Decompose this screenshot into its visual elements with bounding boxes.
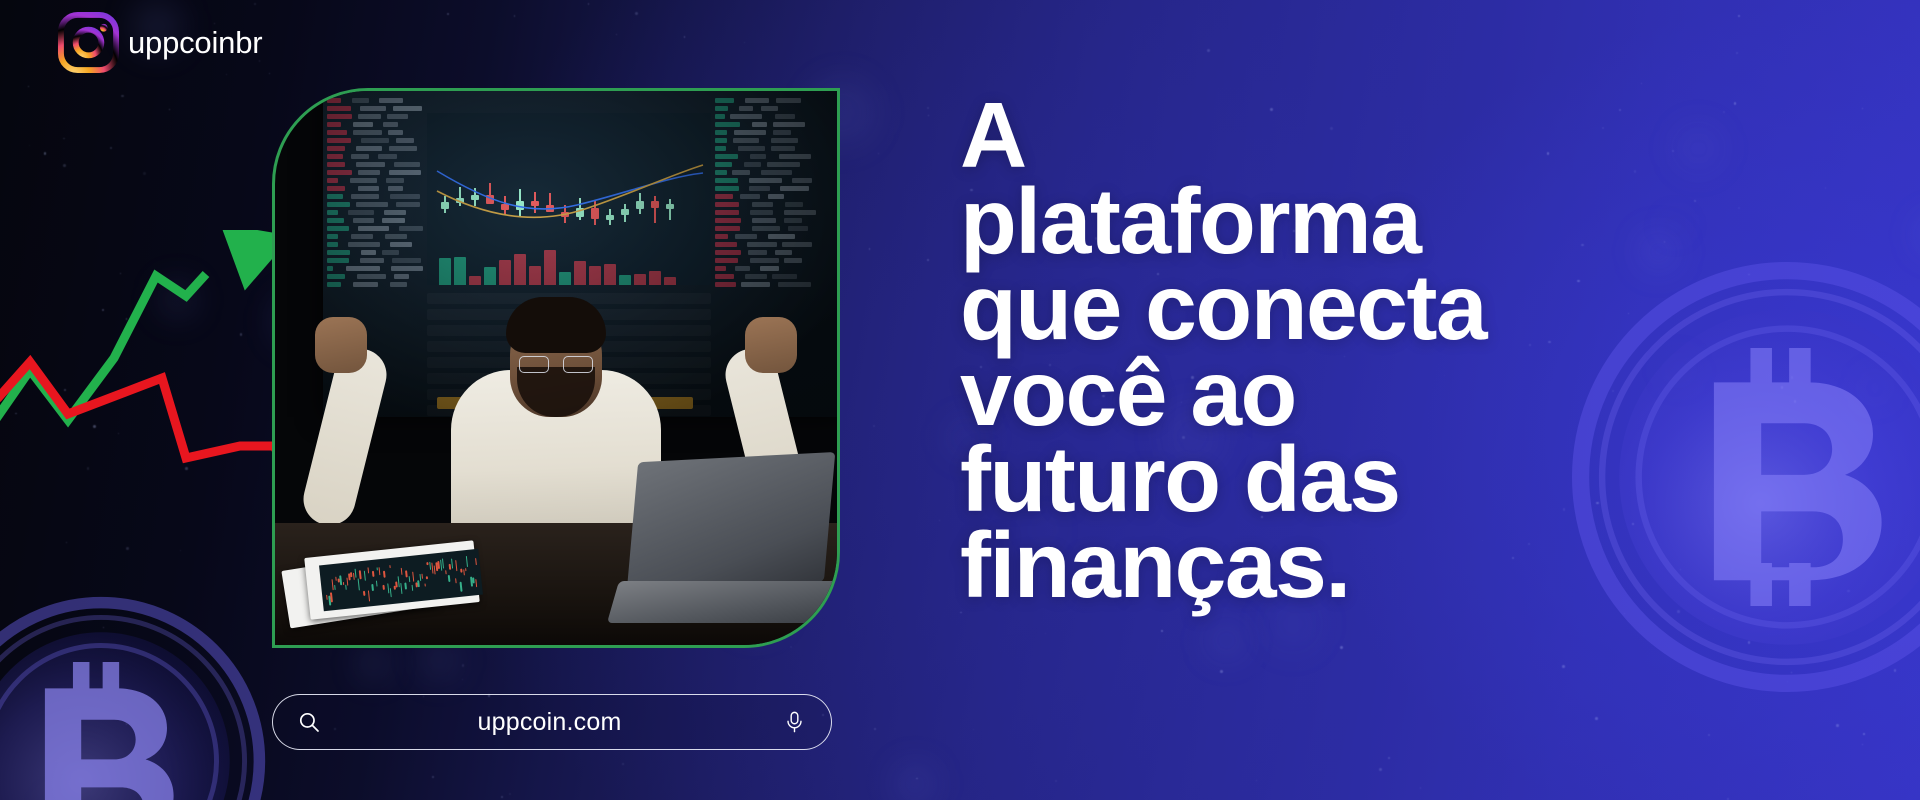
- laptop-base: [607, 581, 837, 623]
- instagram-handle[interactable]: uppcoinbr: [57, 11, 262, 74]
- bitcoin-coin-icon-left: [0, 596, 266, 800]
- page-title: Aplataformaque conectavocê aofuturo dasf…: [960, 92, 1690, 608]
- page-title-line: que conecta: [960, 264, 1690, 350]
- microphone-icon[interactable]: [784, 710, 805, 734]
- laptop-lid: [627, 452, 836, 592]
- desk-surface: [275, 523, 837, 645]
- search-input-value: uppcoin.com: [315, 708, 784, 737]
- page-title-line: finanças.: [960, 522, 1690, 608]
- page-title-line: plataforma: [960, 178, 1690, 264]
- printed-charts: [285, 539, 500, 625]
- instagram-handle-label: uppcoinbr: [128, 27, 262, 58]
- search-input[interactable]: uppcoin.com: [272, 694, 832, 750]
- hero-photo-frame: [272, 88, 840, 648]
- candlestick-chart: [427, 113, 711, 285]
- page-title-line: A: [960, 92, 1690, 178]
- page-title-line: você ao: [960, 350, 1690, 436]
- downtrend-line: [0, 362, 290, 476]
- promo-banner: uppcoinbr: [0, 0, 1920, 800]
- page-title-line: futuro das: [960, 436, 1690, 522]
- hero-photo: [275, 91, 837, 645]
- instagram-icon: [57, 11, 120, 74]
